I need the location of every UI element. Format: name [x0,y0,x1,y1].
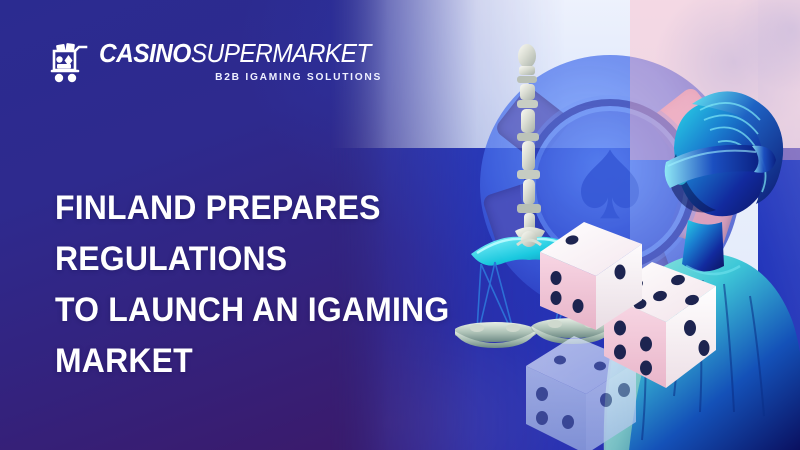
headline: FINLAND PREPARES REGULATIONS TO LAUNCH A… [55,183,525,387]
headline-line: REGULATIONS [55,234,497,285]
brand-logo[interactable]: CASINOSUPERMARKET B2B IGAMING SOLUTIONS [48,40,382,84]
brand-logo-text: CASINOSUPERMARKET B2B IGAMING SOLUTIONS [99,41,382,83]
shopping-cart-with-playing-cards-icon [48,40,90,84]
brand-name: CASINOSUPERMARKET [99,41,371,67]
brand-name-bold: CASINO [99,40,191,68]
promo-banner: CASINOSUPERMARKET B2B IGAMING SOLUTIONS … [0,0,800,450]
headline-line: MARKET [55,336,497,387]
brand-name-light: SUPERMARKET [191,40,371,68]
die-front-upper [532,214,650,336]
headline-line: TO LAUNCH AN IGAMING [55,285,497,336]
brand-tagline: B2B IGAMING SOLUTIONS [99,72,382,83]
headline-line: FINLAND PREPARES [55,183,497,234]
